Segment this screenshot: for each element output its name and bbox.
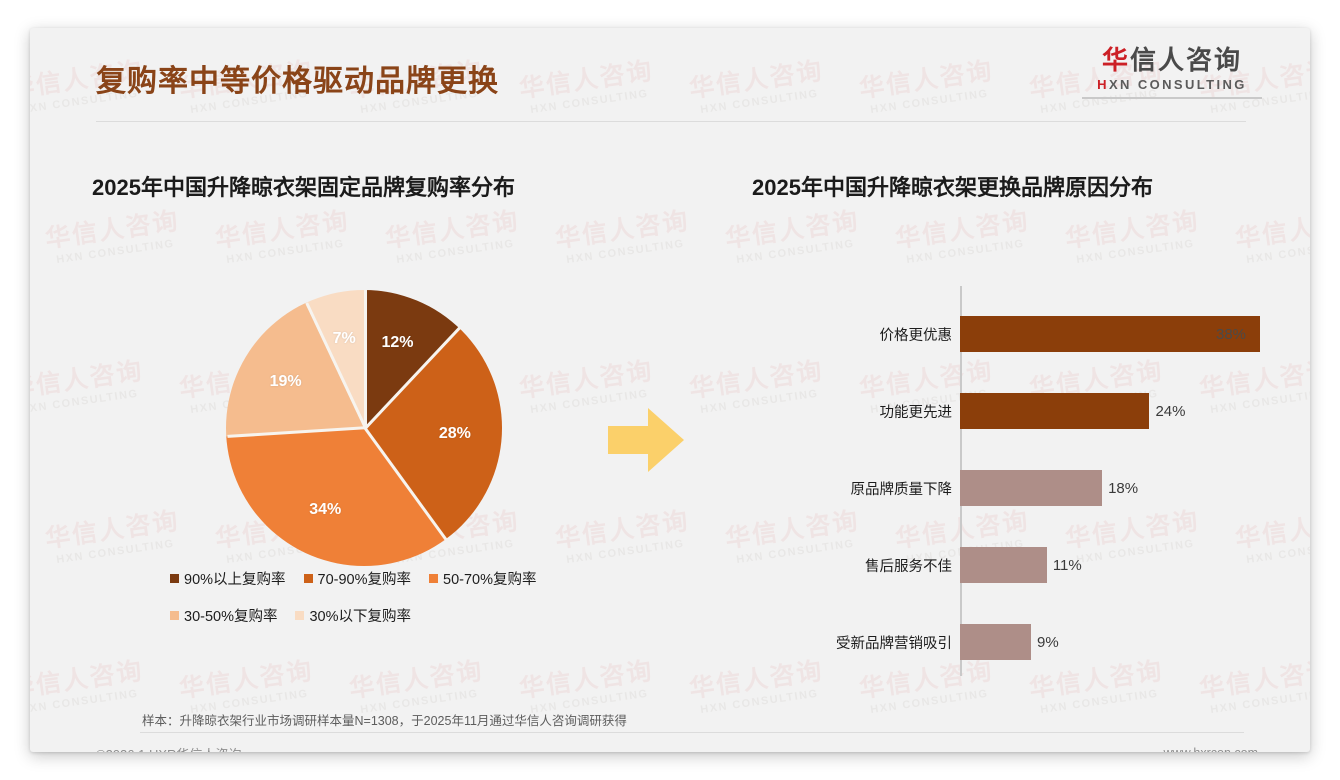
bar-track: 11% xyxy=(960,547,1272,583)
bar-category-label: 售后服务不佳 xyxy=(752,555,960,576)
legend-row: 30-50%复购率30%以下复购率 xyxy=(170,605,600,626)
legend-swatch-icon xyxy=(304,574,313,583)
bar-chart-title: 2025年中国升降晾衣架更换品牌原因分布 xyxy=(752,170,1153,202)
bar-fill[interactable] xyxy=(960,624,1031,660)
legend-swatch-icon xyxy=(295,611,304,620)
legend-row: 90%以上复购率70-90%复购率50-70%复购率 xyxy=(170,568,600,589)
bar-track: 9% xyxy=(960,624,1272,660)
legend-item[interactable]: 50-70%复购率 xyxy=(429,568,536,589)
pie-slice-label: 34% xyxy=(309,501,341,519)
legend-item[interactable]: 30%以下复购率 xyxy=(295,605,411,626)
pie-chart-title: 2025年中国升降晾衣架固定品牌复购率分布 xyxy=(92,170,515,202)
legend-swatch-icon xyxy=(170,611,179,620)
header-divider xyxy=(96,121,1246,122)
bar-category-label: 价格更优惠 xyxy=(752,324,960,345)
bar-category-label: 原品牌质量下降 xyxy=(752,478,960,499)
bar-track: 18% xyxy=(960,470,1272,506)
legend-swatch-icon xyxy=(170,574,179,583)
pie-legend: 90%以上复购率70-90%复购率50-70%复购率30-50%复购率30%以下… xyxy=(170,568,600,642)
logo-cn-rest: 信人咨询 xyxy=(1130,45,1242,75)
legend-label: 30-50%复购率 xyxy=(184,605,277,626)
legend-item[interactable]: 70-90%复购率 xyxy=(304,568,411,589)
logo-english-text: HXN CONSULTING xyxy=(1082,77,1262,92)
logo-en-accent: H xyxy=(1097,77,1109,92)
slide-header: 复购率中等价格驱动品牌更换 华信人咨询 HXN CONSULTING xyxy=(30,28,1310,124)
company-logo: 华信人咨询 HXN CONSULTING xyxy=(1082,46,1262,99)
bar-value-label: 18% xyxy=(1108,480,1138,497)
flow-arrow-icon xyxy=(608,406,684,474)
bar-row: 受新品牌营销吸引9% xyxy=(752,624,1272,660)
legend-label: 70-90%复购率 xyxy=(318,568,411,589)
bar-row: 原品牌质量下降18% xyxy=(752,470,1272,506)
bar-value-label: 24% xyxy=(1155,403,1185,420)
logo-cn-accent: 华 xyxy=(1102,45,1130,75)
bar-category-label: 功能更先进 xyxy=(752,401,960,422)
page-title: 复购率中等价格驱动品牌更换 xyxy=(96,56,499,100)
pie-slice-label: 28% xyxy=(439,425,471,443)
bar-row: 价格更优惠38% xyxy=(752,316,1272,352)
bar-chart: 价格更优惠38%功能更先进24%原品牌质量下降18%售后服务不佳11%受新品牌营… xyxy=(752,286,1272,676)
pie-slice-label: 19% xyxy=(270,373,302,391)
pie-slice-label: 7% xyxy=(333,330,356,348)
logo-chinese-text: 华信人咨询 xyxy=(1082,46,1262,75)
bar-fill[interactable] xyxy=(960,393,1149,429)
legend-item[interactable]: 90%以上复购率 xyxy=(170,568,286,589)
bar-category-label: 受新品牌营销吸引 xyxy=(752,632,960,653)
legend-swatch-icon xyxy=(429,574,438,583)
bar-row: 功能更先进24% xyxy=(752,393,1272,429)
logo-underline xyxy=(1082,97,1262,99)
bar-fill[interactable] xyxy=(960,470,1102,506)
slide-body: 2025年中国升降晾衣架固定品牌复购率分布 12%28%34%19%7% 90%… xyxy=(30,28,1310,752)
bar-fill[interactable] xyxy=(960,316,1260,352)
bar-track: 24% xyxy=(960,393,1272,429)
copyright-text: ©2026.1 HXR华信人咨询 xyxy=(96,744,241,752)
pie-chart: 12%28%34%19%7% xyxy=(226,290,502,566)
source-note: 样本：升降晾衣架行业市场调研样本量N=1308，于2025年11月通过华信人咨询… xyxy=(142,710,627,729)
footer-divider xyxy=(140,732,1244,733)
legend-label: 90%以上复购率 xyxy=(184,568,286,589)
bar-value-label: 11% xyxy=(1053,557,1082,574)
bar-value-label: 9% xyxy=(1037,634,1059,651)
logo-en-rest: XN CONSULTING xyxy=(1109,77,1247,92)
slide-canvas: 华信人咨询HXN CONSULTING华信人咨询HXN CONSULTING华信… xyxy=(30,28,1310,752)
pie-slice-label: 12% xyxy=(382,334,414,352)
bar-track: 38% xyxy=(960,316,1272,352)
bar-value-label: 38% xyxy=(1216,326,1246,343)
bar-fill[interactable] xyxy=(960,547,1047,583)
website-text: www.hxrcon.com xyxy=(1164,746,1258,752)
legend-label: 50-70%复购率 xyxy=(443,568,536,589)
bar-row: 售后服务不佳11% xyxy=(752,547,1272,583)
legend-item[interactable]: 30-50%复购率 xyxy=(170,605,277,626)
pie-slice-divider xyxy=(364,290,367,428)
legend-label: 30%以下复购率 xyxy=(309,605,411,626)
